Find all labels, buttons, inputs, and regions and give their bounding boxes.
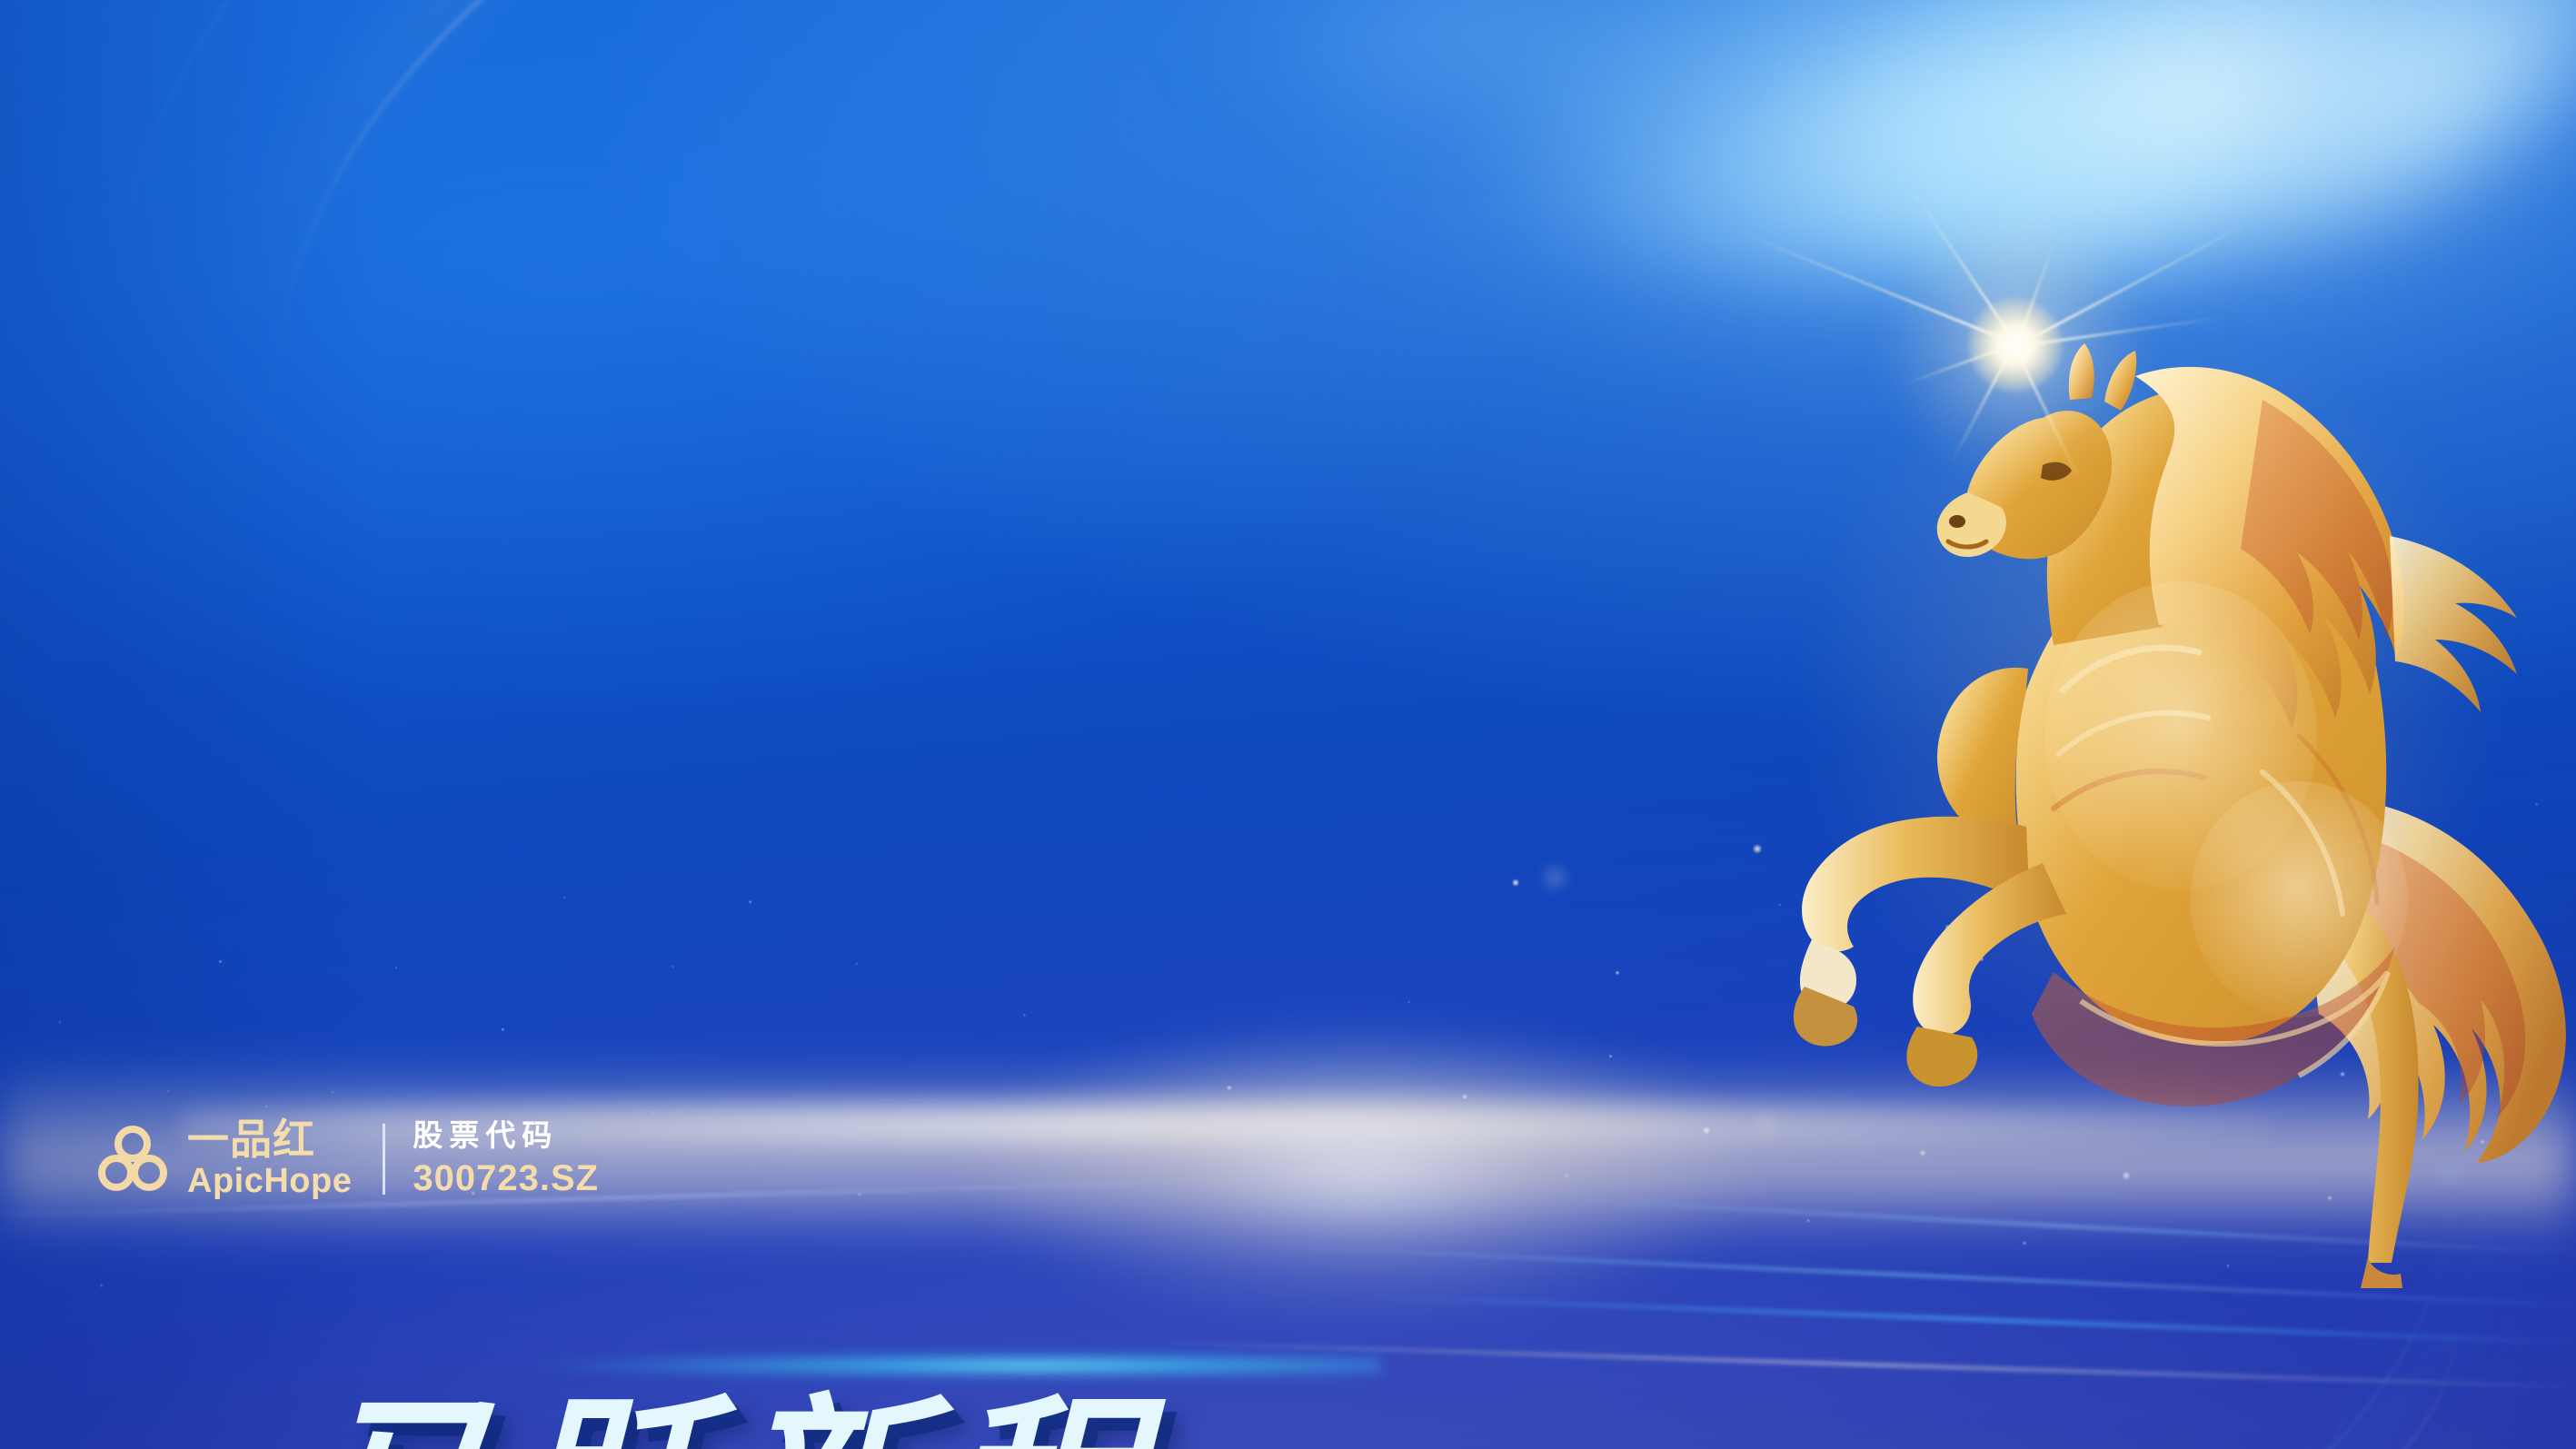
glitter-particles (0, 729, 1011, 1325)
left-vignette (0, 0, 382, 1449)
headline: 马跃新程 励新致远 (0, 1392, 1599, 1449)
brand-name-en: ApicHope (187, 1164, 352, 1200)
vertical-divider (383, 1124, 385, 1195)
cloud-wisp-icon (1181, 0, 1745, 136)
stock-info: 股票代码 300723.SZ (413, 1119, 599, 1198)
stock-label: 股票代码 (413, 1119, 599, 1152)
speed-streak (1363, 1294, 2576, 1345)
brand-lockup: 一品红 ApicHope 股票代码 300723.SZ (98, 1119, 2576, 1199)
brand-text: 一品红 ApicHope (187, 1118, 352, 1200)
stock-code: 300723.SZ (413, 1157, 599, 1199)
poster-canvas: 一品红 ApicHope 股票代码 300723.SZ 马跃新程 励新致远 一品… (0, 0, 2576, 1449)
brand-name-cn: 一品红 (187, 1118, 352, 1160)
headline-line-1: 马跃新程 (0, 1392, 1599, 1449)
trefoil-rings-icon (98, 1126, 167, 1193)
